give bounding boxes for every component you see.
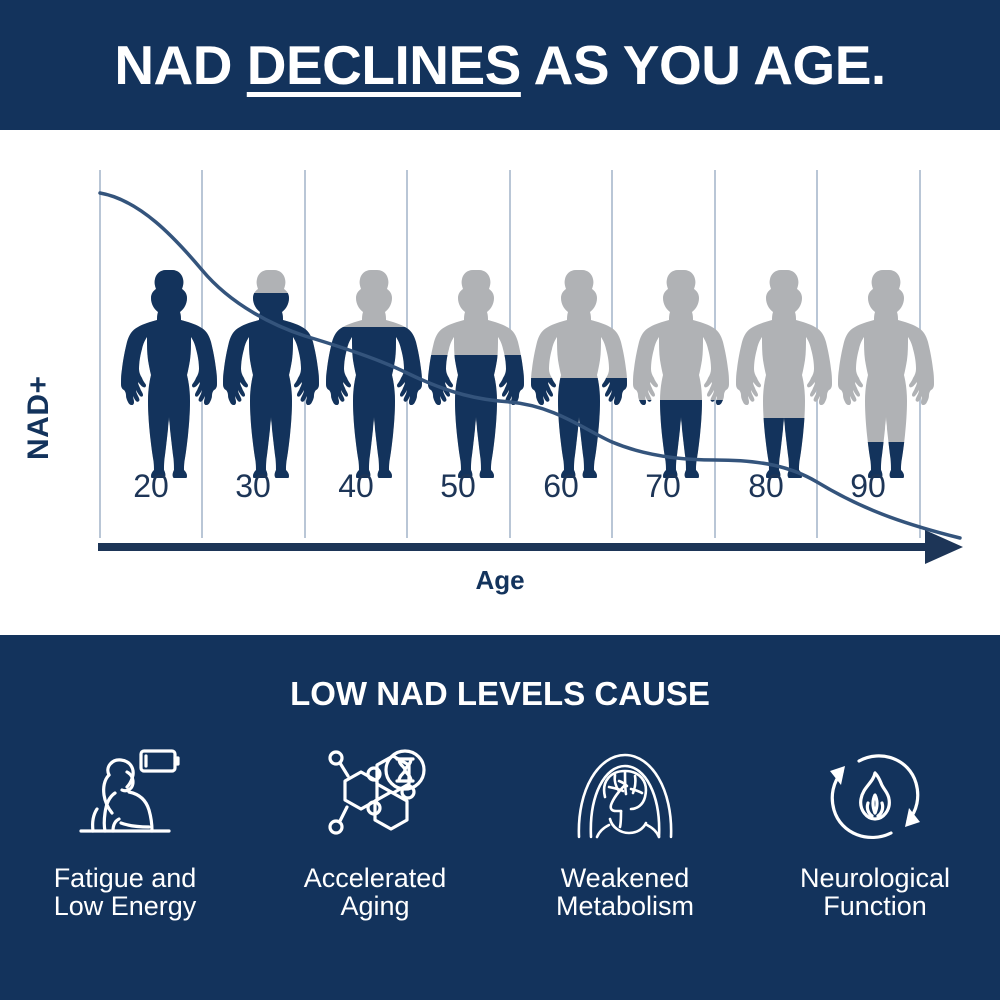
title-part-2: AS YOU AGE. bbox=[521, 34, 886, 96]
molecule-hourglass-icon bbox=[319, 740, 431, 850]
figure-group-navy-fill bbox=[121, 270, 934, 480]
age-tick-80: 80 bbox=[715, 468, 817, 505]
age-tick-90: 90 bbox=[817, 468, 919, 505]
header-banner: NAD DECLINES AS YOU AGE. bbox=[0, 0, 1000, 130]
cause-card-label: Weakened Metabolism bbox=[556, 864, 694, 921]
infographic-page: NAD DECLINES AS YOU AGE. NAD+ Age bbox=[0, 0, 1000, 1000]
chart-canvas bbox=[0, 130, 1000, 635]
cause-card-neurological: Neurological Function bbox=[760, 740, 990, 921]
x-axis-line bbox=[98, 530, 963, 564]
causes-heading: LOW NAD LEVELS CAUSE bbox=[0, 675, 1000, 713]
causes-card-row: Fatigue and Low Energy bbox=[0, 740, 1000, 921]
flame-cycle-icon bbox=[819, 740, 931, 850]
cause-card-aging: Accelerated Aging bbox=[260, 740, 490, 921]
age-tick-20: 20 bbox=[100, 468, 202, 505]
title-part-1: NAD bbox=[114, 34, 246, 96]
cause-card-metabolism: Weakened Metabolism bbox=[510, 740, 740, 921]
nad-decline-chart: NAD+ Age bbox=[0, 130, 1000, 635]
age-tick-60: 60 bbox=[510, 468, 612, 505]
age-tick-30: 30 bbox=[202, 468, 304, 505]
age-tick-50: 50 bbox=[407, 468, 509, 505]
tired-person-battery-icon bbox=[69, 740, 181, 850]
title-underlined-word: DECLINES bbox=[247, 34, 521, 96]
page-title: NAD DECLINES AS YOU AGE. bbox=[114, 33, 885, 97]
cause-card-label: Neurological Function bbox=[800, 864, 950, 921]
cause-card-fatigue: Fatigue and Low Energy bbox=[10, 740, 240, 921]
causes-section: LOW NAD LEVELS CAUSE bbox=[0, 635, 1000, 1000]
brain-head-icon bbox=[569, 740, 681, 850]
cause-card-label: Accelerated Aging bbox=[304, 864, 447, 921]
age-tick-40: 40 bbox=[305, 468, 407, 505]
age-tick-70: 70 bbox=[612, 468, 714, 505]
figure-group-grey bbox=[121, 270, 934, 480]
cause-card-label: Fatigue and Low Energy bbox=[54, 864, 197, 921]
